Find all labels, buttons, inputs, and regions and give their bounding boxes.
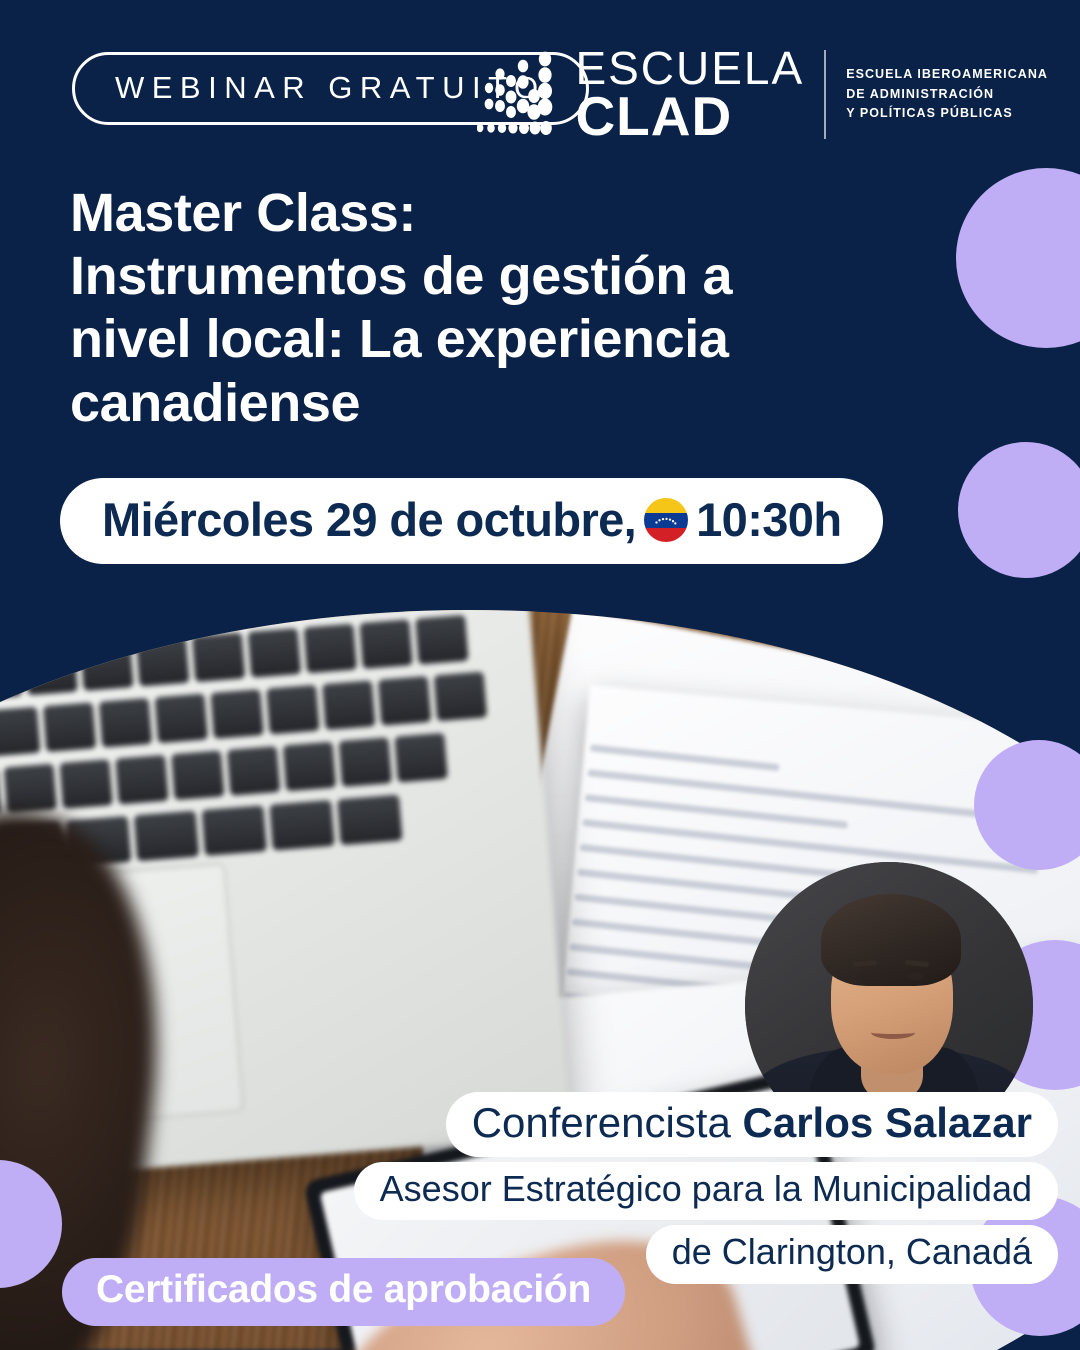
speaker-affiliation-line-2: de Clarington, Canadá	[646, 1225, 1058, 1283]
clad-logo: ESCUELA CLAD ESCUELA IBEROAMERICANA DE A…	[477, 46, 1048, 143]
portrait-eye-right	[907, 972, 924, 980]
logo-clad-text: CLAD	[575, 90, 804, 143]
logo-tagline: ESCUELA IBEROAMERICANA DE ADMINISTRACIÓN…	[846, 65, 1048, 123]
speaker-role-label: Conferencista	[472, 1099, 731, 1146]
venezuela-flag-icon	[642, 496, 690, 544]
date-time-badge: Miércoles 29 de octubre, 10:30h	[60, 478, 883, 564]
logo-escuela-text: ESCUELA	[575, 46, 804, 90]
certificate-badge: Certificados de aprobación	[62, 1258, 625, 1326]
logo-divider	[824, 50, 826, 139]
webinar-poster: WEBINAR GRATUITO	[0, 0, 1080, 1350]
speaker-name: Carlos Salazar	[743, 1099, 1033, 1146]
speaker-name-pill: Conferencista Carlos Salazar	[446, 1092, 1058, 1157]
speaker-info: Conferencista Carlos Salazar Asesor Estr…	[354, 1092, 1058, 1284]
portrait-smile	[871, 1026, 915, 1039]
date-text: Miércoles 29 de octubre,	[102, 492, 636, 547]
dot-matrix-icon	[477, 50, 555, 138]
time-text: 10:30h	[696, 492, 841, 547]
decor-circle	[958, 442, 1080, 578]
speaker-affiliation-line-1: Asesor Estratégico para la Municipalidad	[354, 1162, 1058, 1220]
portrait-eye-left	[857, 972, 874, 980]
decor-circle	[956, 168, 1080, 348]
logo-wordmark: ESCUELA CLAD	[575, 46, 804, 143]
portrait-hair	[821, 894, 961, 986]
page-title: Master Class: Instrumentos de gestión a …	[70, 182, 910, 435]
